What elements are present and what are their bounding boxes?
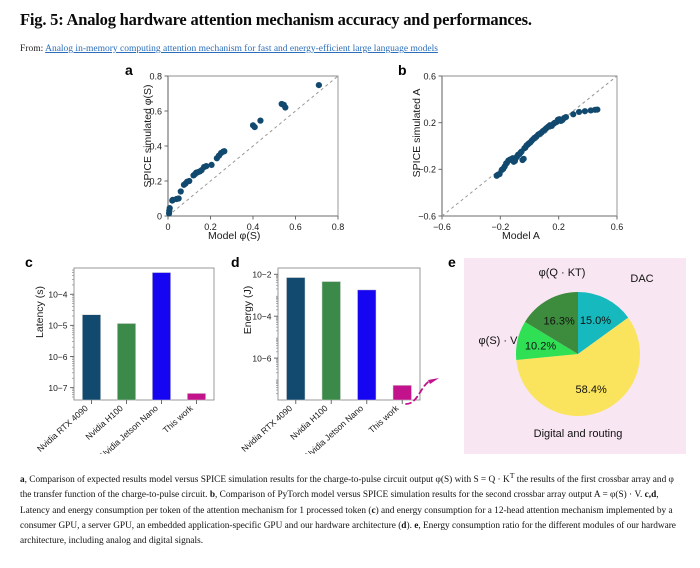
scatter-points: [494, 107, 601, 179]
data-point: [186, 178, 192, 184]
bar: [82, 315, 100, 400]
panel-a-letter: a: [125, 62, 133, 78]
figure-body: a 00.20.40.60.800.20.40.60.8 Model φ(S) …: [0, 62, 700, 462]
tick-label-x: 0.6: [611, 222, 624, 232]
bar: [287, 278, 305, 400]
panel-b-xlabel: Model A: [502, 230, 540, 242]
bar-category-label: Nvidia Jetson Nano: [303, 403, 365, 454]
panel-e: e 15.0%58.4%10.2%16.3%DACDigital and rou…: [446, 254, 686, 454]
data-point: [563, 114, 569, 120]
tick-label-y: 10−6: [252, 353, 271, 363]
caption-a-text: , Comparison of expected results model v…: [25, 475, 510, 485]
panel-d-ylabel: Energy (J): [242, 265, 254, 355]
tick-label-y: 0.6: [423, 71, 436, 81]
figure-title: Fig. 5: Analog hardware attention mechan…: [20, 10, 680, 30]
bar-category-label: Nvidia RTX 4090: [239, 403, 294, 454]
tick-label-y: 10−5: [48, 321, 67, 331]
pie-percent-label: 10.2%: [525, 340, 556, 352]
panel-b: b −0.6−0.20.20.6−0.6−0.20.20.6 Model A S…: [390, 62, 640, 252]
tick-label-x: 0.6: [289, 222, 302, 232]
tick-label-y: 10−4: [48, 290, 67, 300]
panel-d: d 10−610−410−2Nvidia RTX 4090Nvidia H100…: [228, 254, 443, 454]
tick-label-y: 10−7: [48, 383, 67, 393]
data-point: [178, 188, 184, 194]
tick-label-y: 10−6: [48, 352, 67, 362]
data-point: [594, 107, 600, 113]
panel-c: c 10−710−610−510−4Nvidia RTX 4090Nvidia …: [22, 254, 232, 454]
panel-a-xlabel: Model φ(S): [208, 230, 260, 242]
bar: [187, 393, 205, 400]
caption-cd-label: c,d: [645, 490, 657, 500]
data-point: [203, 163, 209, 169]
tick-label-y: 10−2: [252, 270, 271, 280]
figure-caption: a, Comparison of expected results model …: [20, 470, 680, 550]
data-point: [252, 124, 258, 130]
data-point: [167, 205, 173, 211]
pie-category-label: φ(Q · KT): [539, 267, 586, 279]
pie-slices: [516, 292, 640, 416]
panel-a: a 00.20.40.60.800.20.40.60.8 Model φ(S) …: [120, 62, 360, 252]
panel-b-ylabel: SPICE simulated A: [411, 63, 423, 203]
data-point: [582, 108, 588, 114]
panel-c-letter: c: [25, 254, 33, 270]
tick-label-y: 0: [157, 211, 162, 221]
pie-category-label: Digital and routing: [534, 428, 623, 440]
data-point: [176, 195, 182, 201]
panel-d-letter: d: [231, 254, 240, 270]
panel-e-pie: 15.0%58.4%10.2%16.3%DACDigital and routi…: [446, 254, 686, 454]
scatter-points: [166, 82, 322, 216]
tick-label-x: 0.8: [332, 222, 345, 232]
data-point: [221, 148, 227, 154]
panel-a-plot: 00.20.40.60.800.20.40.60.8: [120, 62, 360, 252]
panel-c-plot: 10−710−610−510−4Nvidia RTX 4090Nvidia H1…: [22, 254, 232, 454]
bar-group: [82, 273, 205, 400]
pie-percent-label: 16.3%: [544, 316, 575, 328]
tick-label-x: −0.6: [433, 222, 451, 232]
panel-b-letter: b: [398, 62, 407, 78]
bar-category-label: Nvidia RTX 4090: [35, 403, 90, 454]
data-point: [521, 156, 527, 162]
panel-d-plot: 10−610−410−2Nvidia RTX 4090Nvidia H100Nv…: [228, 254, 443, 454]
panel-b-plot: −0.6−0.20.20.6−0.6−0.20.20.6: [390, 62, 640, 252]
caption-b-text: , Comparison of PyTorch model versus SPI…: [215, 490, 645, 500]
tick-label-x: 0: [165, 222, 170, 232]
from-prefix: From:: [20, 44, 43, 54]
pie-category-label: φ(S) · V: [479, 335, 519, 347]
panel-e-letter: e: [448, 254, 456, 270]
bar: [117, 324, 135, 400]
panel-a-ylabel: SPICE simulated φ(S): [142, 66, 154, 206]
bar-category-label: This work: [161, 403, 196, 436]
bar: [152, 273, 170, 400]
tick-label-y: 10−4: [252, 312, 271, 322]
tick-label-y: 0.2: [423, 118, 436, 128]
data-point: [316, 82, 322, 88]
data-point: [570, 111, 576, 117]
data-point: [257, 118, 263, 124]
bar-category-label: This work: [367, 403, 402, 436]
data-point: [282, 104, 288, 110]
data-point: [208, 162, 214, 168]
source-line: From: Analog in-memory computing attenti…: [20, 44, 438, 54]
pie-percent-label: 58.4%: [576, 384, 607, 396]
bar: [358, 290, 376, 400]
bar-group: [287, 278, 412, 400]
panel-c-ylabel: Latency (s): [34, 267, 46, 357]
pie-percent-label: 15.0%: [580, 315, 611, 327]
tick-label-y: −0.6: [418, 211, 436, 221]
tick-label-x: 0.2: [552, 222, 565, 232]
source-article-link[interactable]: Analog in-memory computing attention mec…: [45, 44, 438, 54]
bar: [393, 385, 411, 400]
data-point: [576, 109, 582, 115]
pie-category-label: DAC: [630, 273, 653, 285]
bar-category-label: Nvidia Jetson Nano: [98, 403, 160, 454]
bar: [322, 282, 340, 400]
